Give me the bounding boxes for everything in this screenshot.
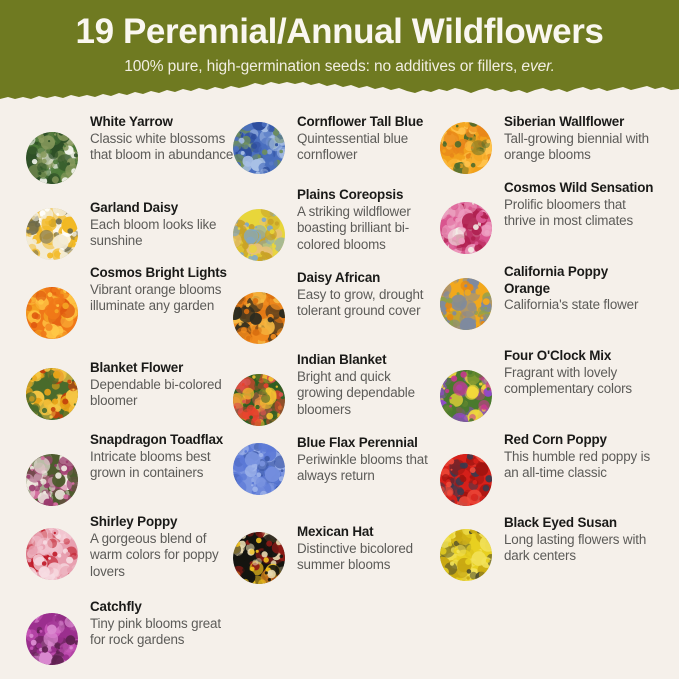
flower-text-block: Shirley PoppyA gorgeous blend of warm co… [90,514,236,580]
flower-name: Plains Coreopsis [297,187,438,204]
flower-description: Long lasting flowers with dark centers [504,532,655,565]
flower-item[interactable]: Blue Flax PerennialPeriwinkle blooms tha… [233,435,438,485]
red-corn-poppy-photo-thumbnail [440,454,492,506]
flower-name: White Yarrow [90,114,236,131]
flower-item[interactable]: Blanket FlowerDependable bi-colored bloo… [26,360,236,410]
page-title: 19 Perennial/Annual Wildflowers [0,12,679,52]
flower-name: Shirley Poppy [90,514,236,531]
flower-item[interactable]: CatchflyTiny pink blooms great for rock … [26,599,236,649]
header-content: 19 Perennial/Annual Wildflowers 100% pur… [0,0,679,76]
flower-item[interactable]: Garland DaisyEach bloom looks like sunsh… [26,200,236,250]
subtitle-emphasis-text: ever. [521,58,554,75]
flower-item[interactable]: Black Eyed SusanLong lasting flowers wit… [440,515,655,565]
flower-item[interactable]: Mexican HatDistinctive bicolored summer … [233,524,438,574]
flower-item[interactable]: Shirley PoppyA gorgeous blend of warm co… [26,514,236,580]
daisy-african-photo-thumbnail [233,292,285,344]
flower-text-block: Snapdragon ToadflaxIntricate blooms best… [90,432,236,482]
flower-name: Cornflower Tall Blue [297,114,438,131]
flower-text-block: Plains CoreopsisA striking wildflower bo… [297,187,438,253]
flower-description: California's state flower [504,297,655,314]
flower-name: Daisy African [297,270,438,287]
flower-item[interactable]: White YarrowClassic white blossoms that … [26,114,236,164]
flower-description: A gorgeous blend of warm colors for popp… [90,531,236,581]
flower-item[interactable]: California Poppy OrangeCalifornia's stat… [440,264,655,314]
flower-text-block: Garland DaisyEach bloom looks like sunsh… [90,200,236,250]
flower-item[interactable]: Cosmos Wild SensationProlific bloomers t… [440,180,655,230]
flower-description: Classic white blossoms that bloom in abu… [90,131,236,164]
torn-paper-edge-icon [0,77,679,102]
flower-text-block: Daisy AfricanEasy to grow, drought toler… [297,270,438,320]
flower-item[interactable]: Cosmos Bright LightsVibrant orange bloom… [26,265,236,315]
flower-description: Easy to grow, drought tolerant ground co… [297,287,438,320]
flower-text-block: Black Eyed SusanLong lasting flowers wit… [504,515,655,565]
flower-name: Indian Blanket [297,352,438,369]
mexican-hat-photo-thumbnail [233,532,285,584]
flower-item[interactable]: Daisy AfricanEasy to grow, drought toler… [233,270,438,320]
california-poppy-orange-photo-thumbnail [440,278,492,330]
subtitle-main-text: 100% pure, high-germination seeds: no ad… [124,58,521,75]
flower-description: Distinctive bicolored summer blooms [297,541,438,574]
four-oclock-mix-photo-thumbnail [440,370,492,422]
flower-description: A striking wildflower boasting brilliant… [297,204,438,254]
white-yarrow-photo-thumbnail [26,132,78,184]
flower-text-block: California Poppy OrangeCalifornia's stat… [504,264,655,314]
flower-description: Bright and quick growing dependable bloo… [297,369,438,419]
flower-name: Black Eyed Susan [504,515,655,532]
flower-description: Fragrant with lovely complementary color… [504,365,655,398]
cornflower-tall-blue-photo-thumbnail [233,122,285,174]
shirley-poppy-photo-thumbnail [26,528,78,580]
flower-grid: White YarrowClassic white blossoms that … [0,102,679,679]
flower-description: Periwinkle blooms that always return [297,452,438,485]
flower-column-2: Siberian WallflowerTall-growing biennial… [440,102,655,679]
flower-column-1: Cornflower Tall BlueQuintessential blue … [233,102,438,679]
flower-text-block: Red Corn PoppyThis humble red poppy is a… [504,432,655,482]
header-banner: 19 Perennial/Annual Wildflowers 100% pur… [0,0,679,102]
flower-name: Blue Flax Perennial [297,435,438,452]
flower-text-block: Indian BlanketBright and quick growing d… [297,352,438,418]
black-eyed-susan-photo-thumbnail [440,529,492,581]
flower-name: Garland Daisy [90,200,236,217]
flower-text-block: White YarrowClassic white blossoms that … [90,114,236,164]
flower-item[interactable]: Plains CoreopsisA striking wildflower bo… [233,187,438,253]
blue-flax-perennial-photo-thumbnail [233,443,285,495]
flower-description: Vibrant orange blooms illuminate any gar… [90,282,236,315]
flower-name: Red Corn Poppy [504,432,655,449]
blanket-flower-photo-thumbnail [26,368,78,420]
flower-text-block: Cornflower Tall BlueQuintessential blue … [297,114,438,164]
flower-description: Tall-growing biennial with orange blooms [504,131,655,164]
flower-text-block: Cosmos Bright LightsVibrant orange bloom… [90,265,236,315]
flower-name: Catchfly [90,599,236,616]
flower-description: This humble red poppy is an all-time cla… [504,449,655,482]
flower-name: Blanket Flower [90,360,236,377]
flower-item[interactable]: Siberian WallflowerTall-growing biennial… [440,114,655,164]
flower-item[interactable]: Four O'Clock MixFragrant with lovely com… [440,348,655,398]
flower-text-block: Siberian WallflowerTall-growing biennial… [504,114,655,164]
catchfly-photo-thumbnail [26,613,78,665]
flower-description: Prolific bloomers that thrive in most cl… [504,197,655,230]
flower-text-block: Mexican HatDistinctive bicolored summer … [297,524,438,574]
cosmos-wild-sensation-photo-thumbnail [440,202,492,254]
flower-name: Four O'Clock Mix [504,348,655,365]
flower-text-block: Four O'Clock MixFragrant with lovely com… [504,348,655,398]
flower-description: Dependable bi-colored bloomer [90,377,236,410]
flower-description: Each bloom looks like sunshine [90,217,236,250]
flower-text-block: Blanket FlowerDependable bi-colored bloo… [90,360,236,410]
flower-description: Intricate blooms best grown in container… [90,449,236,482]
flower-description: Quintessential blue cornflower [297,131,438,164]
flower-name: Cosmos Wild Sensation [504,180,655,197]
page-subtitle: 100% pure, high-germination seeds: no ad… [0,58,679,76]
flower-name: Snapdragon Toadflax [90,432,236,449]
garland-daisy-photo-thumbnail [26,208,78,260]
flower-name: Cosmos Bright Lights [90,265,236,282]
flower-name: Mexican Hat [297,524,438,541]
flower-text-block: Blue Flax PerennialPeriwinkle blooms tha… [297,435,438,485]
flower-item[interactable]: Cornflower Tall BlueQuintessential blue … [233,114,438,164]
cosmos-bright-lights-photo-thumbnail [26,287,78,339]
flower-description: Tiny pink blooms great for rock gardens [90,616,236,649]
snapdragon-toadflax-photo-thumbnail [26,454,78,506]
flower-text-block: Cosmos Wild SensationProlific bloomers t… [504,180,655,230]
wildflower-infographic: 19 Perennial/Annual Wildflowers 100% pur… [0,0,679,679]
plains-coreopsis-photo-thumbnail [233,209,285,261]
flower-item[interactable]: Indian BlanketBright and quick growing d… [233,352,438,418]
siberian-wallflower-photo-thumbnail [440,122,492,174]
flower-item[interactable]: Snapdragon ToadflaxIntricate blooms best… [26,432,236,482]
flower-name: California Poppy Orange [504,264,655,297]
flower-column-0: White YarrowClassic white blossoms that … [26,102,236,679]
indian-blanket-photo-thumbnail [233,374,285,426]
flower-item[interactable]: Red Corn PoppyThis humble red poppy is a… [440,432,655,482]
flower-name: Siberian Wallflower [504,114,655,131]
flower-text-block: CatchflyTiny pink blooms great for rock … [90,599,236,649]
